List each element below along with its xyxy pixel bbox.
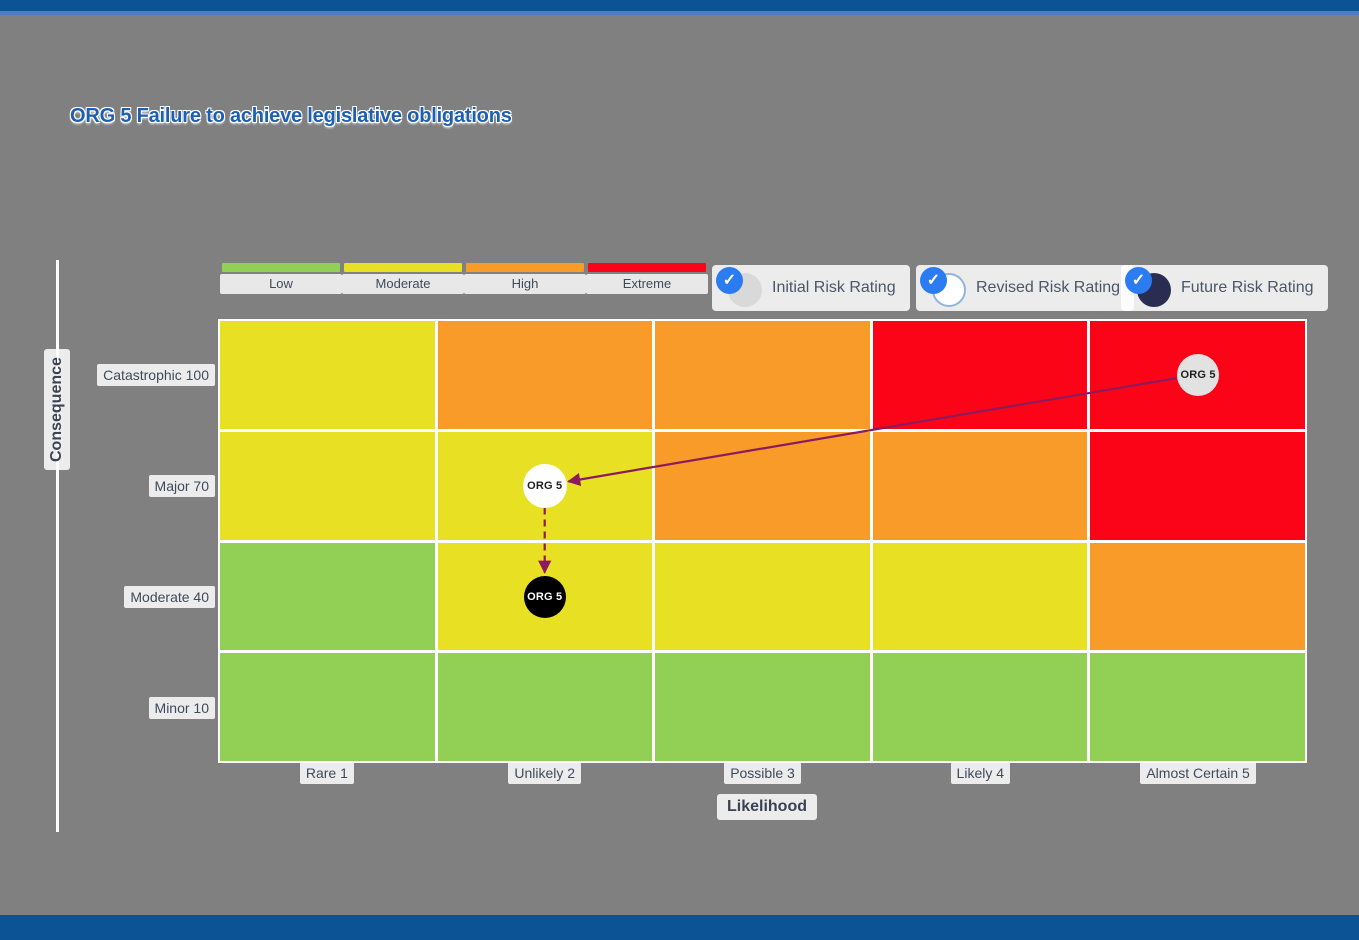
legend-swatch-wrap: ✓ (920, 267, 972, 309)
x-axis-tick-label-text: Unlikely 2 (508, 762, 581, 784)
matrix-cell (220, 321, 435, 429)
x-axis-tick-label: Possible 3 (654, 765, 872, 791)
severity-color-bar (466, 263, 584, 272)
matrix-cell (220, 432, 435, 540)
x-axis-tick-label-text: Rare 1 (300, 762, 354, 784)
page-title: ORG 5 Failure to achieve legislative obl… (70, 105, 512, 128)
risk-marker-future[interactable]: ORG 5 (524, 576, 566, 618)
matrix-cell (655, 321, 870, 429)
x-axis-tick-label-text: Almost Certain 5 (1140, 762, 1255, 784)
x-axis-tick-label: Rare 1 (218, 765, 436, 791)
severity-color-bar (222, 263, 340, 272)
matrix-cell (873, 321, 1088, 429)
severity-legend-item: High (464, 263, 586, 295)
matrix-cell (438, 653, 653, 761)
severity-legend-label: Low (220, 274, 342, 294)
legend-item-initial-risk-rating[interactable]: ✓Initial Risk Rating (712, 265, 910, 311)
x-axis-tick-label: Likely 4 (871, 765, 1089, 791)
checkmark-icon[interactable]: ✓ (1125, 267, 1152, 294)
legend-item-label: Revised Risk Rating (976, 279, 1120, 297)
legend-item-label: Initial Risk Rating (772, 279, 896, 297)
severity-color-bar (588, 263, 706, 272)
matrix-cell (873, 432, 1088, 540)
risk-matrix-grid (218, 319, 1307, 763)
severity-legend-item: Moderate (342, 263, 464, 295)
x-axis-tick-label: Almost Certain 5 (1089, 765, 1307, 791)
y-axis-tick-labels: Catastrophic 100Major 70Moderate 40Minor… (60, 319, 215, 763)
window-bottom-bar (0, 915, 1359, 940)
severity-legend-label: High (464, 274, 586, 294)
x-axis-tick-labels: Rare 1Unlikely 2Possible 3Likely 4Almost… (218, 765, 1307, 791)
y-axis-line (56, 260, 59, 832)
x-axis-tick-label-text: Possible 3 (724, 762, 801, 784)
risk-marker-initial[interactable]: ORG 5 (1177, 354, 1219, 396)
risk-marker-revised[interactable]: ORG 5 (523, 464, 567, 508)
severity-color-bar (344, 263, 462, 272)
matrix-cell (655, 543, 870, 651)
window-top-bar-highlight (0, 11, 1359, 15)
y-axis-tick-label: Major 70 (149, 475, 215, 497)
y-axis-tick-label: Catastrophic 100 (97, 364, 215, 386)
matrix-cell (220, 543, 435, 651)
matrix-cell (438, 321, 653, 429)
matrix-cell (1090, 432, 1305, 540)
matrix-cell (655, 653, 870, 761)
y-axis-tick-label: Moderate 40 (124, 586, 215, 608)
checkmark-icon[interactable]: ✓ (920, 267, 947, 294)
y-axis-tick-label: Minor 10 (149, 697, 215, 719)
matrix-cell (655, 432, 870, 540)
severity-legend-label: Moderate (342, 274, 464, 294)
legend-swatch-wrap: ✓ (716, 267, 768, 309)
severity-legend-item: Low (220, 263, 342, 295)
matrix-cell (873, 543, 1088, 651)
window-top-bar (0, 0, 1359, 11)
risk-matrix-screen: ORG 5 Failure to achieve legislative obl… (0, 0, 1359, 940)
legend-item-revised-risk-rating[interactable]: ✓Revised Risk Rating (916, 265, 1134, 311)
matrix-cell (220, 653, 435, 761)
severity-legend-item: Extreme (586, 263, 708, 295)
x-axis-tick-label: Unlikely 2 (436, 765, 654, 791)
matrix-cell (873, 653, 1088, 761)
legend-item-label: Future Risk Rating (1181, 279, 1314, 297)
legend-swatch-wrap: ✓ (1125, 267, 1177, 309)
matrix-cell (1090, 653, 1305, 761)
severity-legend-label: Extreme (586, 274, 708, 294)
severity-legend: LowModerateHighExtreme (220, 263, 708, 295)
checkmark-icon[interactable]: ✓ (716, 267, 743, 294)
legend-item-future-risk-rating[interactable]: ✓Future Risk Rating (1121, 265, 1328, 311)
matrix-cell (1090, 543, 1305, 651)
x-axis-title: Likelihood (717, 794, 817, 820)
x-axis-tick-label-text: Likely 4 (951, 762, 1010, 784)
